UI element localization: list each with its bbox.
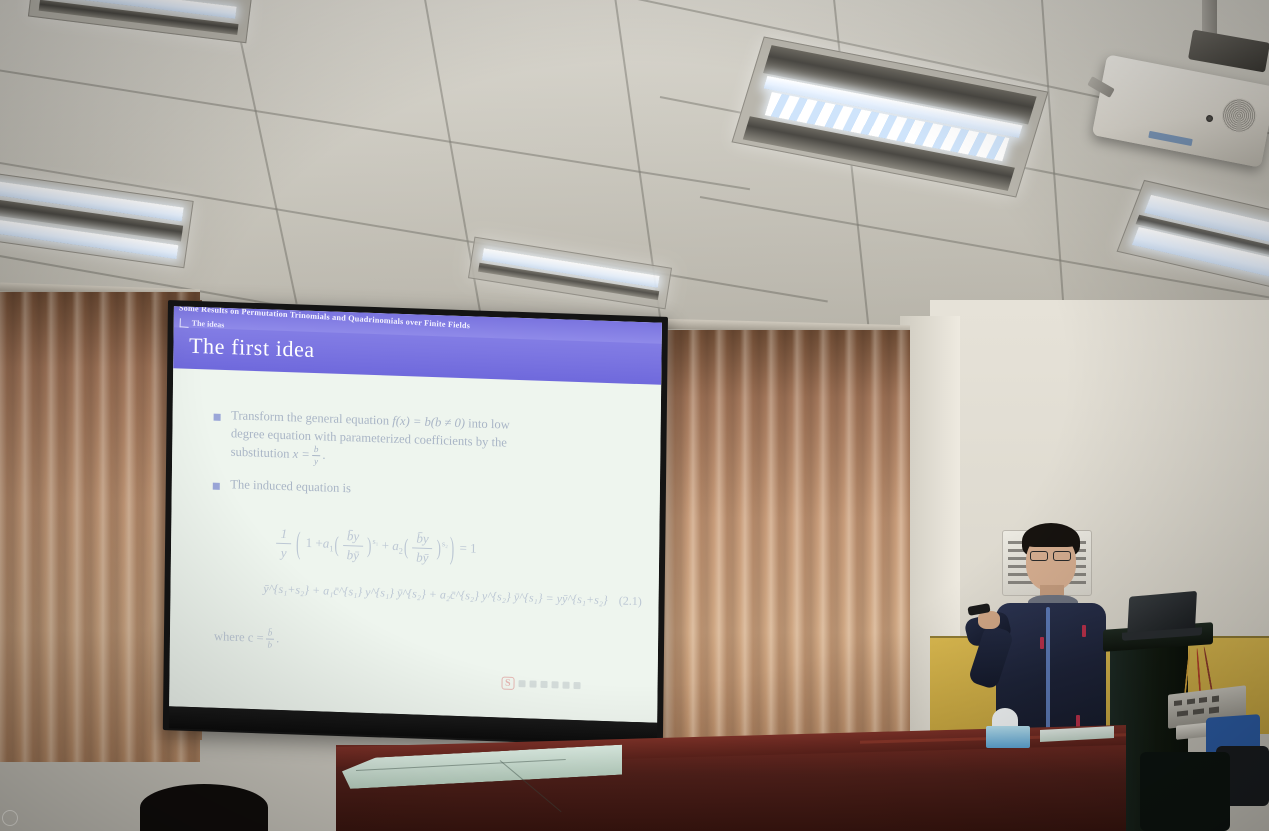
presenter-glasses-icon <box>1053 551 1071 561</box>
where-period: . <box>276 631 279 645</box>
slide-body: Transform the general equation f(x) = b(… <box>169 368 661 723</box>
equation-1: 1y( 1 +a1(b̄ybȳ)s₁ + a2(b̄ybȳ)s₂) = 1 <box>273 527 476 566</box>
bullet-item-1: Transform the general equation f(x) = b(… <box>214 407 605 476</box>
eq1-inner-close-2: ) <box>436 534 441 561</box>
equation-2: ȳ^{s₁+s₂} + a₁c̄^{s₁} y^{s₁} ȳ^{s₂} + a₂… <box>263 581 642 609</box>
bullet1-tail: into low <box>468 416 510 431</box>
eq1-f2-num: b̄y <box>412 532 432 549</box>
eq1-exp-1: s₁ <box>372 537 378 546</box>
eq1-inner-open-2: ( <box>404 533 409 560</box>
audience-member-head <box>140 784 268 831</box>
bullet-marker-icon <box>213 483 220 490</box>
eq1-inner-close: ) <box>367 532 372 559</box>
eq1-a2-sub: 2 <box>399 546 403 556</box>
tissue-box <box>986 726 1030 748</box>
eq1-fraction-2: b̄ybȳ <box>412 532 433 565</box>
ime-glyph-icon <box>540 681 547 688</box>
eq1-den: y <box>277 544 291 560</box>
eq1-a1-sub: 1 <box>329 544 333 554</box>
presenter-left-hand <box>978 611 1000 629</box>
presenter-jacket-tab <box>1082 625 1086 637</box>
lens-corner-artifact <box>2 810 18 826</box>
bullet1-line3-var: x = <box>293 447 310 462</box>
ime-watermark: S <box>501 677 580 693</box>
bullet2-text: The induced equation is <box>230 477 351 498</box>
presenter-jacket-tab <box>1076 715 1080 727</box>
eq1-fraction-1: b̄ybȳ <box>343 530 364 563</box>
bullet-item-2: The induced equation is <box>213 476 604 507</box>
ime-glyph-icon <box>573 682 580 689</box>
projector-lens-icon <box>1205 114 1213 122</box>
ime-glyph-icon <box>518 681 525 688</box>
bullet1-equation: f(x) = b(b ≠ 0) <box>392 414 465 430</box>
eq1-f2-den: bȳ <box>412 549 432 565</box>
ceiling <box>0 0 1269 330</box>
where-num: b̄ <box>266 628 275 639</box>
eq1-num: 1 <box>277 527 292 544</box>
where-lead: where c = <box>214 629 264 645</box>
projection-screen: Some Results on Permutation Trinomials a… <box>163 300 668 747</box>
projector-vent-icon <box>1219 96 1259 136</box>
frac-denominator: y <box>312 456 320 466</box>
eq1-exp-2: s₂ <box>442 540 448 549</box>
eq1-open-paren: ( <box>296 524 301 563</box>
slide-title: The first idea <box>189 332 315 362</box>
lectern-shadow-block <box>1140 752 1230 831</box>
bullet1-lead: Transform the general equation <box>231 408 389 427</box>
where-den: b <box>266 639 275 649</box>
eq1-f1-num: b̄y <box>343 530 363 547</box>
frac-numerator: b <box>312 445 321 456</box>
presenter-hair-top <box>1024 525 1078 547</box>
eq1-plus: + <box>382 538 390 553</box>
eq1-f1-den: bȳ <box>343 546 363 562</box>
where-fraction: b̄b <box>266 628 275 649</box>
where-line: where c =b̄b. <box>214 627 280 650</box>
eq1-rhs: = 1 <box>459 541 476 557</box>
curtain-right <box>662 330 910 750</box>
equation-2-number: (2.1) <box>619 593 642 608</box>
ime-glyph-icon <box>529 681 536 688</box>
screen-surface: Some Results on Permutation Trinomials a… <box>169 306 662 723</box>
bullet1-fraction: by <box>312 445 321 466</box>
projector-label <box>1148 131 1193 146</box>
bullet-marker-icon <box>214 414 221 421</box>
presenter-jacket-tab <box>1040 637 1044 649</box>
sogou-logo-icon: S <box>501 677 514 690</box>
eq1-one-plus: 1 + <box>306 535 323 551</box>
eq1-inner-open: ( <box>334 531 339 558</box>
lecture-room-photo: Some Results on Permutation Trinomials a… <box>0 0 1269 831</box>
ime-glyph-icon <box>551 682 558 689</box>
equation-2-text: ȳ^{s₁+s₂} + a₁c̄^{s₁} y^{s₁} ȳ^{s₂} + a₂… <box>263 581 608 607</box>
eq1-leading-fraction: 1y <box>276 527 291 560</box>
bullet1-line3-lead: substitution <box>231 445 290 461</box>
ime-glyph-icon <box>562 682 569 689</box>
eq1-close-paren: ) <box>450 529 455 568</box>
slide: Some Results on Permutation Trinomials a… <box>169 306 662 723</box>
presenter-glasses-icon <box>1030 551 1048 561</box>
